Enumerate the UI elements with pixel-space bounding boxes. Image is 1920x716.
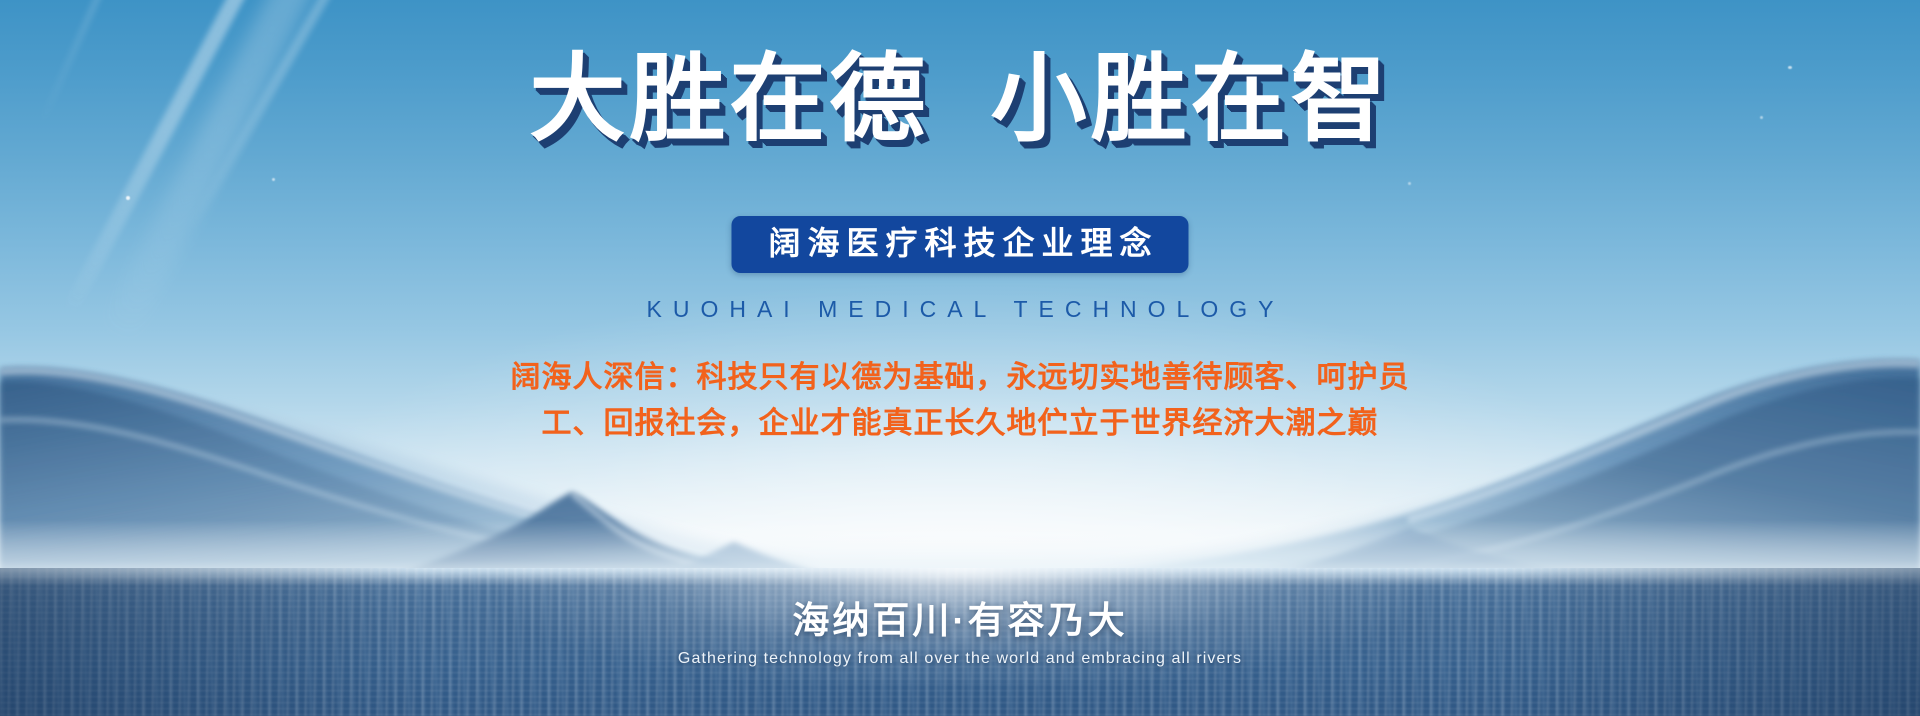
footer-slogan: 海纳百川·有容乃大 Gathering technology from all … <box>0 598 1920 668</box>
footer-slogan-cn: 海纳百川·有容乃大 <box>0 598 1920 644</box>
statement-line-2: 工、回报社会，企业才能真正长久地伫立于世界经济大潮之巅 <box>0 401 1920 447</box>
subtitle-english: KUOHAI MEDICAL TECHNOLOGY <box>0 296 1920 323</box>
banner-canvas: 大胜在德 小胜在智 阔海医疗科技企业理念 KUOHAI MEDICAL TECH… <box>0 0 1920 716</box>
footer-slogan-en: Gathering technology from all over the w… <box>0 650 1920 668</box>
philosophy-statement: 阔海人深信：科技只有以德为基础，永远切实地善待顾客、呵护员 工、回报社会，企业才… <box>0 355 1920 446</box>
page-title: 大胜在德 小胜在智 <box>0 48 1920 152</box>
banner-content: 大胜在德 小胜在智 阔海医疗科技企业理念 KUOHAI MEDICAL TECH… <box>0 0 1920 716</box>
statement-line-1: 阔海人深信：科技只有以德为基础，永远切实地善待顾客、呵护员 <box>0 355 1920 401</box>
status-badge: 阔海医疗科技企业理念 <box>731 216 1188 273</box>
